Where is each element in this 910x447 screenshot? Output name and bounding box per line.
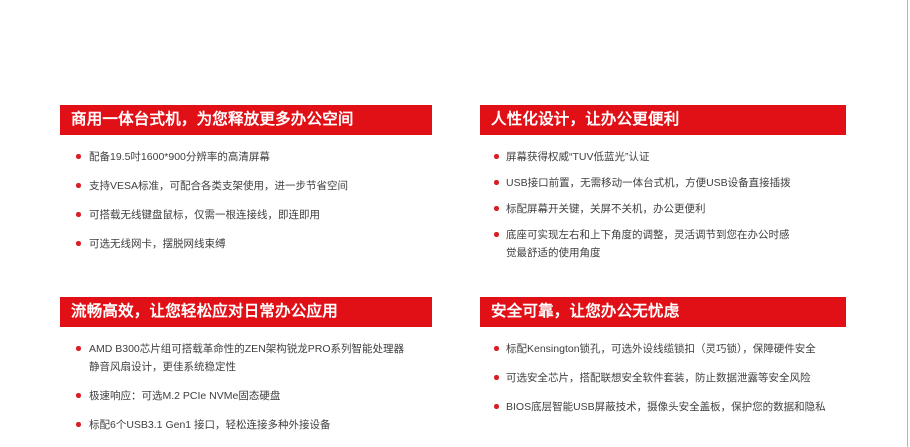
panel-title: 流畅高效，让您轻松应对日常办公应用 bbox=[71, 297, 338, 327]
list-item: AMD B300芯片组可搭载革命性的ZEN架构锐龙PRO系列智能处理器 静音风扇… bbox=[60, 340, 432, 376]
panel-banner: 商用一体台式机，为您释放更多办公空间 bbox=[60, 105, 432, 135]
bullet-dot-icon bbox=[76, 422, 81, 427]
panel-banner: 流畅高效，让您轻松应对日常办公应用 bbox=[60, 297, 432, 327]
bullet-dot-icon bbox=[76, 346, 81, 351]
bullet-dot-icon bbox=[76, 154, 81, 159]
list-item: 屏幕获得权威“TUV低蓝光”认证 bbox=[480, 148, 846, 166]
panel-banner: 人性化设计，让办公更便利 bbox=[480, 105, 846, 135]
feature-panel-grid: 商用一体台式机，为您释放更多办公空间 配备19.5吋1600*900分辨率的高清… bbox=[0, 0, 910, 447]
feature-panel-commercial-aio: 商用一体台式机，为您释放更多办公空间 配备19.5吋1600*900分辨率的高清… bbox=[60, 105, 432, 264]
bullet-dot-icon bbox=[494, 404, 499, 409]
panel-banner: 安全可靠，让您办公无忧虑 bbox=[480, 297, 846, 327]
bullet-dot-icon bbox=[76, 393, 81, 398]
bullet-dot-icon bbox=[494, 180, 499, 185]
list-item: 标配6个USB3.1 Gen1 接口，轻松连接多种外接设备 bbox=[60, 416, 432, 434]
list-item-label: 屏幕获得权威“TUV低蓝光”认证 bbox=[506, 148, 846, 166]
panel-title: 商用一体台式机，为您释放更多办公空间 bbox=[71, 105, 354, 135]
list-item-label: 支持VESA标准，可配合各类支架使用，进一步节省空间 bbox=[89, 177, 432, 195]
panel-feature-list: AMD B300芯片组可搭载革命性的ZEN架构锐龙PRO系列智能处理器 静音风扇… bbox=[60, 327, 432, 434]
bullet-dot-icon bbox=[494, 154, 499, 159]
bullet-dot-icon bbox=[76, 183, 81, 188]
bullet-dot-icon bbox=[494, 206, 499, 211]
bullet-dot-icon bbox=[76, 241, 81, 246]
list-item-label: 标配Kensington锁孔，可选外设线缆锁扣（灵巧锁），保障硬件安全 bbox=[506, 340, 846, 358]
feature-panel-security: 安全可靠，让您办公无忧虑 标配Kensington锁孔，可选外设线缆锁扣（灵巧锁… bbox=[480, 297, 846, 427]
panel-title: 人性化设计，让办公更便利 bbox=[491, 105, 679, 135]
product-feature-sheet: 商用一体台式机，为您释放更多办公空间 配备19.5吋1600*900分辨率的高清… bbox=[0, 0, 910, 447]
list-item-label: 可选安全芯片，搭配联想安全软件套装，防止数据泄露等安全风险 bbox=[506, 369, 846, 387]
list-item: 底座可实现左右和上下角度的调整，灵活调节到您在办公时感 觉最舒适的使用角度 bbox=[480, 226, 846, 262]
list-item-label: BIOS底层智能USB屏蔽技术，摄像头安全盖板，保护您的数据和隐私 bbox=[506, 398, 846, 416]
bullet-dot-icon bbox=[494, 232, 499, 237]
list-item-label: 极速响应：可选M.2 PCIe NVMe固态硬盘 bbox=[89, 387, 432, 405]
list-item: 标配Kensington锁孔，可选外设线缆锁扣（灵巧锁），保障硬件安全 bbox=[480, 340, 846, 358]
feature-panel-performance: 流畅高效，让您轻松应对日常办公应用 AMD B300芯片组可搭载革命性的ZEN架… bbox=[60, 297, 432, 445]
list-item: 支持VESA标准，可配合各类支架使用，进一步节省空间 bbox=[60, 177, 432, 195]
list-item-label: USB接口前置，无需移动一体台式机，方便USB设备直接插拨 bbox=[506, 174, 846, 192]
panel-feature-list: 屏幕获得权威“TUV低蓝光”认证 USB接口前置，无需移动一体台式机，方便USB… bbox=[480, 135, 846, 262]
list-item-label: 底座可实现左右和上下角度的调整，灵活调节到您在办公时感 觉最舒适的使用角度 bbox=[506, 226, 846, 262]
list-item-label: 可选无线网卡，摆脱网线束缚 bbox=[89, 235, 432, 253]
panel-title: 安全可靠，让您办公无忧虑 bbox=[491, 297, 679, 327]
panel-feature-list: 标配Kensington锁孔，可选外设线缆锁扣（灵巧锁），保障硬件安全 可选安全… bbox=[480, 327, 846, 416]
list-item-label: 标配6个USB3.1 Gen1 接口，轻松连接多种外接设备 bbox=[89, 416, 432, 434]
list-item: BIOS底层智能USB屏蔽技术，摄像头安全盖板，保护您的数据和隐私 bbox=[480, 398, 846, 416]
list-item-label: AMD B300芯片组可搭载革命性的ZEN架构锐龙PRO系列智能处理器 静音风扇… bbox=[89, 340, 432, 376]
list-item: USB接口前置，无需移动一体台式机，方便USB设备直接插拨 bbox=[480, 174, 846, 192]
list-item: 可搭载无线键盘鼠标，仅需一根连接线，即连即用 bbox=[60, 206, 432, 224]
list-item: 极速响应：可选M.2 PCIe NVMe固态硬盘 bbox=[60, 387, 432, 405]
panel-feature-list: 配备19.5吋1600*900分辨率的高清屏幕 支持VESA标准，可配合各类支架… bbox=[60, 135, 432, 253]
list-item: 标配屏幕开关键，关屏不关机，办公更便利 bbox=[480, 200, 846, 218]
list-item: 配备19.5吋1600*900分辨率的高清屏幕 bbox=[60, 148, 432, 166]
list-item: 可选无线网卡，摆脱网线束缚 bbox=[60, 235, 432, 253]
list-item-label: 配备19.5吋1600*900分辨率的高清屏幕 bbox=[89, 148, 432, 166]
list-item-label: 可搭载无线键盘鼠标，仅需一根连接线，即连即用 bbox=[89, 206, 432, 224]
bullet-dot-icon bbox=[494, 375, 499, 380]
bullet-dot-icon bbox=[76, 212, 81, 217]
bullet-dot-icon bbox=[494, 346, 499, 351]
feature-panel-human-centric-design: 人性化设计，让办公更便利 屏幕获得权威“TUV低蓝光”认证 USB接口前置，无需… bbox=[480, 105, 846, 270]
list-item-label: 标配屏幕开关键，关屏不关机，办公更便利 bbox=[506, 200, 846, 218]
list-item: 可选安全芯片，搭配联想安全软件套装，防止数据泄露等安全风险 bbox=[480, 369, 846, 387]
